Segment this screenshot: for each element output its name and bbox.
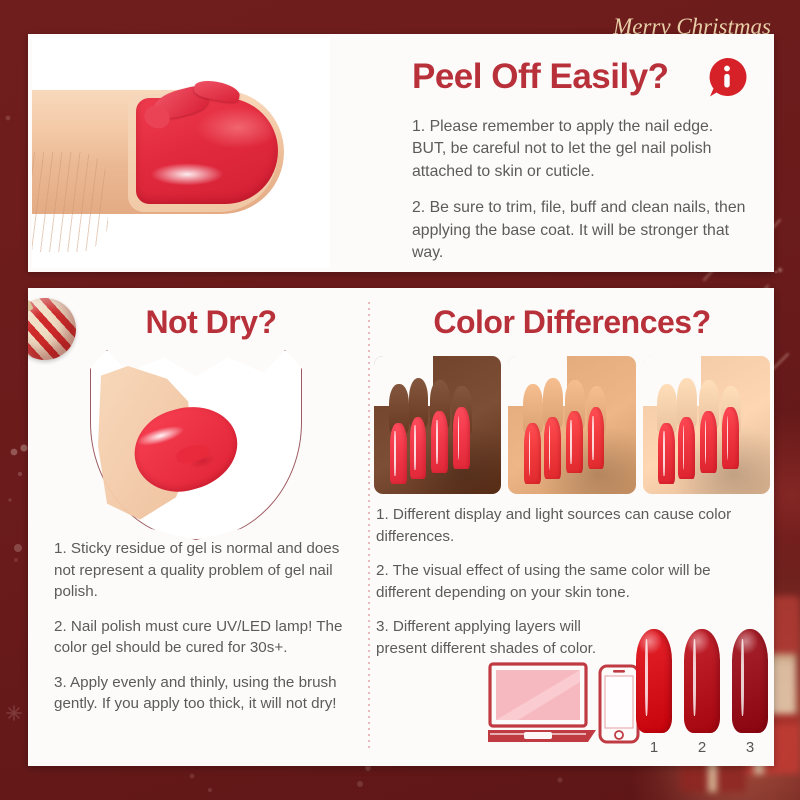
painted-nail <box>700 411 717 473</box>
painted-nail <box>722 407 739 469</box>
skin-tone-photo-row <box>374 356 770 494</box>
color-diff-paragraph-3: 3. Different applying layers will presen… <box>376 616 598 659</box>
peel-off-heading: Peel Off Easily? <box>412 59 669 96</box>
painted-nail <box>431 411 448 473</box>
peel-off-paragraph-2: 2. Be sure to trim, file, buff and clean… <box>412 197 748 264</box>
color-diff-paragraph-1: 1. Different display and light sources c… <box>376 504 768 547</box>
swatch-column: 2 <box>684 629 720 756</box>
knuckle-wrinkles <box>32 152 108 252</box>
not-dry-paragraph-2: 2. Nail polish must cure UV/LED lamp! Th… <box>54 616 350 659</box>
nail-shade-swatches: 123 <box>636 618 768 756</box>
nail-swatch-1 <box>636 629 672 733</box>
not-dry-illustration <box>90 350 302 540</box>
painted-nail <box>566 411 583 473</box>
painted-nail <box>544 417 561 479</box>
color-differences-heading: Color Differences? <box>370 306 774 340</box>
peel-off-paragraph-1: 1. Please remember to apply the nail edg… <box>412 116 748 183</box>
painted-nail <box>410 417 427 479</box>
color-diff-paragraph-2: 2. The visual effect of using the same c… <box>376 560 768 603</box>
hand-photo-light <box>643 356 770 494</box>
swatch-column: 3 <box>732 629 768 756</box>
swatch-label: 2 <box>698 739 706 756</box>
laptop-icon <box>488 664 596 742</box>
swatch-label: 3 <box>746 739 754 756</box>
peel-off-panel: Peel Off Easily? 1. Please remember to a… <box>28 34 774 272</box>
painted-nail <box>678 417 695 479</box>
nail-swatch-2 <box>684 629 720 733</box>
painted-nail <box>453 407 470 469</box>
painted-nails-group <box>387 378 486 475</box>
info-icon <box>706 56 748 98</box>
not-dry-paragraph-1: 1. Sticky residue of gel is normal and d… <box>54 538 350 603</box>
color-differences-heading-wrap: Color Differences? <box>370 306 774 340</box>
hand-photo-deep <box>374 356 501 494</box>
peel-off-heading-row: Peel Off Easily? <box>412 56 748 98</box>
painted-nail <box>658 423 675 485</box>
painted-nails-group <box>655 378 754 475</box>
peel-off-text-block: Peel Off Easily? 1. Please remember to a… <box>382 34 774 272</box>
painted-nails-group <box>521 378 620 475</box>
not-dry-column: Not Dry? 1. Sticky residue of gel is nor… <box>28 288 368 766</box>
color-differences-column: Color Differences? 1. Different display … <box>370 288 774 766</box>
painted-nail <box>588 407 605 469</box>
smartphone-icon <box>600 666 638 742</box>
not-dry-heading-wrap: Not Dry? <box>28 306 368 340</box>
hand-photo-medium <box>508 356 635 494</box>
painted-nail <box>524 423 541 485</box>
lower-panel: Not Dry? 1. Sticky residue of gel is nor… <box>28 288 774 766</box>
painted-nail <box>390 423 407 485</box>
swatch-column: 1 <box>636 629 672 756</box>
not-dry-heading: Not Dry? <box>54 306 368 340</box>
not-dry-paragraph-3: 3. Apply evenly and thinly, using the br… <box>54 672 350 715</box>
swatch-label: 1 <box>650 739 658 756</box>
not-dry-text-block: 1. Sticky residue of gel is normal and d… <box>54 538 350 715</box>
peeling-nail-photo <box>32 38 330 268</box>
device-icons <box>488 658 642 754</box>
nail-swatch-3 <box>732 629 768 733</box>
